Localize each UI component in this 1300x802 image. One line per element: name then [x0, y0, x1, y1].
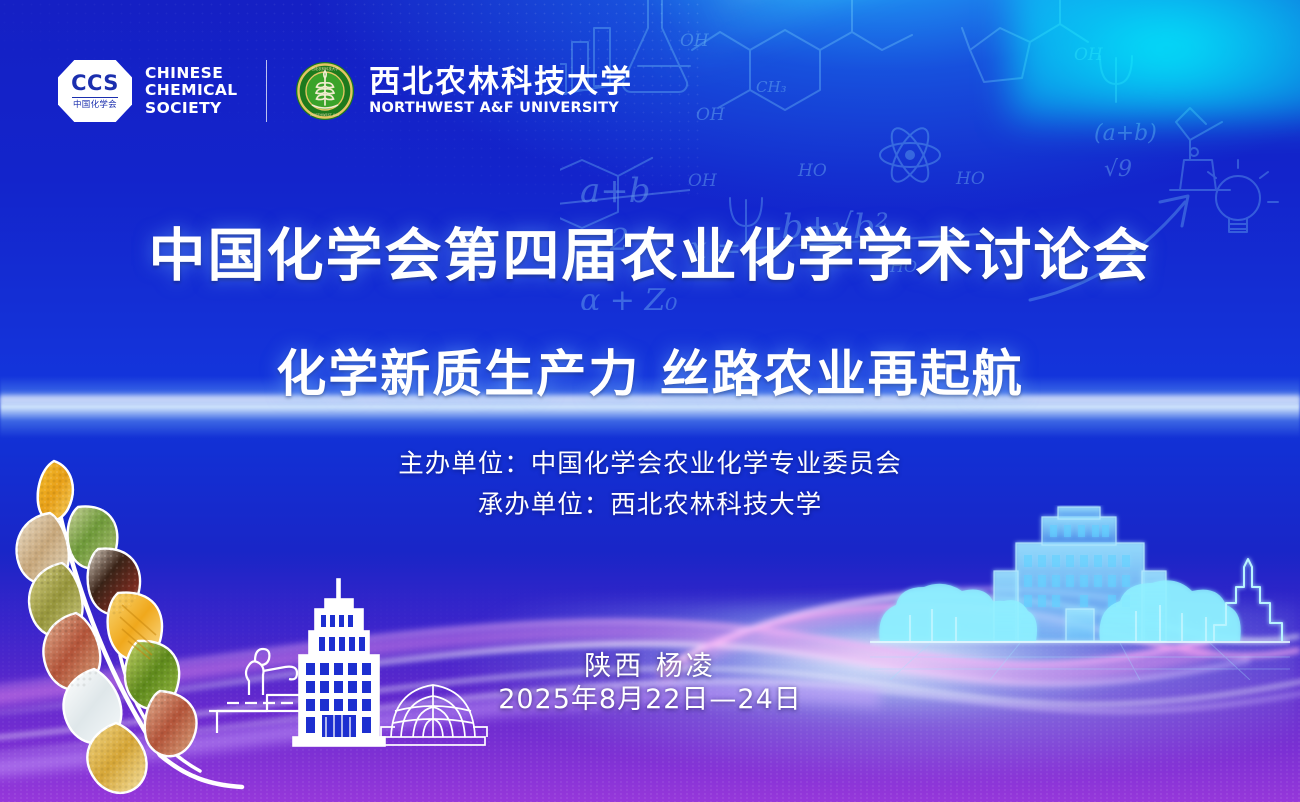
- nwafu-campus-silhouette-icon: [870, 505, 1290, 680]
- svg-text:西北农林科技大学: 西北农林科技大学: [312, 66, 340, 71]
- svg-text:(a+b): (a+b): [1094, 121, 1157, 146]
- ccs-english-line-3: SOCIETY: [145, 100, 238, 117]
- ccs-hexagon-logo-icon: CCS 中国化学会: [58, 60, 132, 122]
- svg-text:OH: OH: [696, 105, 726, 125]
- ccs-logo[interactable]: CCS 中国化学会 CHINESE CHEMICAL SOCIETY: [58, 60, 238, 122]
- conference-subtitle: 化学新质生产力 丝路农业再起航: [0, 334, 1300, 406]
- svg-text:HO: HO: [797, 161, 827, 181]
- conference-banner: OH OH OH OH OH HO HO OH ac CH₃ (a+b) √9 …: [0, 0, 1300, 802]
- ccs-abbr: CCS: [71, 73, 119, 94]
- yangling-landmark-skyline-icon: [205, 575, 495, 760]
- ccs-english-name: CHINESE CHEMICAL SOCIETY: [145, 65, 238, 117]
- logo-bar: CCS 中国化学会 CHINESE CHEMICAL SOCIETY: [58, 60, 633, 122]
- svg-text:HO: HO: [955, 169, 985, 189]
- nwafu-circular-emblem-icon: 西北农林科技大学 NORTHWEST A&F: [295, 61, 355, 121]
- ccs-chinese-name: 中国化学会: [73, 101, 117, 110]
- cyan-light-beam-glow: [1010, 0, 1300, 120]
- svg-text:NORTHWEST A&F: NORTHWEST A&F: [310, 113, 340, 117]
- ccs-english-line-1: CHINESE: [145, 65, 238, 82]
- nwafu-logo[interactable]: 西北农林科技大学 NORTHWEST A&F 西北农林科技大学 NORTHWES…: [295, 61, 633, 121]
- ccs-rule: [72, 97, 118, 99]
- svg-text:CH₃: CH₃: [756, 78, 787, 96]
- svg-text:a+b: a+b: [580, 171, 651, 211]
- nwafu-chinese-name: 西北农林科技大学: [369, 67, 633, 98]
- conference-title: 中国化学会第四届农业化学学术讨论会: [0, 210, 1300, 292]
- nwafu-name-block: 西北农林科技大学 NORTHWEST A&F UNIVERSITY: [369, 67, 633, 116]
- nwafu-english-name: NORTHWEST A&F UNIVERSITY: [369, 100, 633, 116]
- svg-text:OH: OH: [688, 171, 718, 191]
- svg-text:√9: √9: [1104, 157, 1132, 182]
- logo-divider: [266, 60, 268, 122]
- ccs-english-line-2: CHEMICAL: [145, 82, 238, 99]
